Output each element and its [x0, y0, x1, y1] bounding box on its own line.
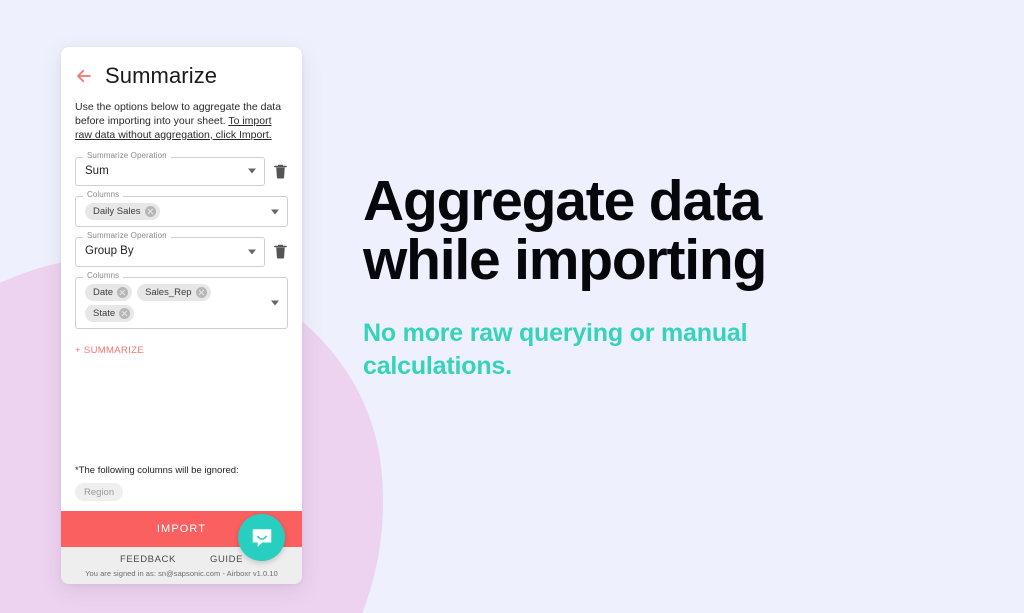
summarize-group-1-operation-row: Summarize Operation Sum	[75, 157, 288, 187]
column-chip[interactable]: Date	[85, 284, 132, 301]
add-summarize-button[interactable]: + SUMMARIZE	[75, 345, 144, 356]
columns-select-2[interactable]: Columns Date Sales_Rep State	[75, 277, 288, 329]
summarize-operation-select-2[interactable]: Summarize Operation Group By	[75, 237, 265, 267]
summarize-group-1-columns-block: Columns Daily Sales	[75, 196, 288, 227]
panel-header: Summarize	[75, 65, 288, 87]
close-icon[interactable]	[196, 287, 207, 298]
panel-description: Use the options below to aggregate the d…	[75, 101, 288, 143]
arrow-left-icon[interactable]	[75, 67, 93, 85]
page-title: Summarize	[105, 65, 217, 87]
close-icon[interactable]	[119, 308, 130, 319]
subheadline-line-1: No more raw querying or manual	[363, 319, 747, 347]
ignored-columns-note: *The following columns will be ignored:	[75, 465, 288, 476]
column-chip[interactable]: State	[85, 305, 134, 322]
summarize-operation-select-1[interactable]: Summarize Operation Sum	[75, 157, 265, 187]
headline-line-1: Aggregate data	[363, 169, 761, 233]
summarize-operation-value-1: Sum	[85, 164, 109, 180]
summarize-group-2-columns-block: Columns Date Sales_Rep State	[75, 277, 288, 329]
summarize-group-2-operation-row: Summarize Operation Group By	[75, 237, 288, 267]
chevron-down-icon[interactable]	[248, 249, 256, 254]
subheadline: No more raw querying or manual calculati…	[363, 317, 973, 384]
chat-launcher-button[interactable]	[238, 514, 285, 561]
chevron-down-icon[interactable]	[248, 169, 256, 174]
trash-icon[interactable]	[273, 243, 288, 260]
column-chip-label: Daily Sales	[93, 206, 141, 217]
column-chip[interactable]: Daily Sales	[85, 203, 160, 220]
ignored-columns-list: Region	[75, 483, 288, 501]
column-chip-label: Date	[93, 287, 113, 298]
headline: Aggregate data while importing	[363, 172, 973, 291]
columns-label-1: Columns	[83, 191, 123, 199]
chevron-down-icon[interactable]	[271, 209, 279, 214]
panel-spacer	[75, 356, 288, 465]
guide-link[interactable]: GUIDE	[210, 554, 243, 565]
signed-in-note: You are signed in as: sn@sapsonic.com - …	[61, 569, 302, 578]
summarize-operation-label-1: Summarize Operation	[83, 152, 171, 160]
column-chip[interactable]: Sales_Rep	[137, 284, 210, 301]
summarize-panel: Summarize Use the options below to aggre…	[61, 47, 302, 584]
feedback-link[interactable]: FEEDBACK	[120, 554, 176, 565]
summarize-operation-value-2: Group By	[85, 244, 134, 260]
columns-select-1[interactable]: Columns Daily Sales	[75, 196, 288, 227]
subheadline-line-2: calculations.	[363, 352, 512, 380]
promo-screenshot: Summarize Use the options below to aggre…	[0, 0, 1024, 613]
close-icon[interactable]	[117, 287, 128, 298]
column-chip-label: State	[93, 308, 115, 319]
close-icon[interactable]	[145, 206, 156, 217]
chat-bubble-icon	[249, 525, 275, 551]
summarize-operation-label-2: Summarize Operation	[83, 232, 171, 240]
trash-icon[interactable]	[273, 163, 288, 180]
headline-line-2: while importing	[363, 228, 766, 292]
summarize-panel-body: Summarize Use the options below to aggre…	[61, 47, 302, 547]
columns-label-2: Columns	[83, 272, 123, 280]
marketing-copy: Aggregate data while importing No more r…	[363, 172, 973, 384]
column-chip-label: Sales_Rep	[145, 287, 191, 298]
ignored-column-chip: Region	[75, 483, 123, 501]
chevron-down-icon[interactable]	[271, 300, 279, 305]
